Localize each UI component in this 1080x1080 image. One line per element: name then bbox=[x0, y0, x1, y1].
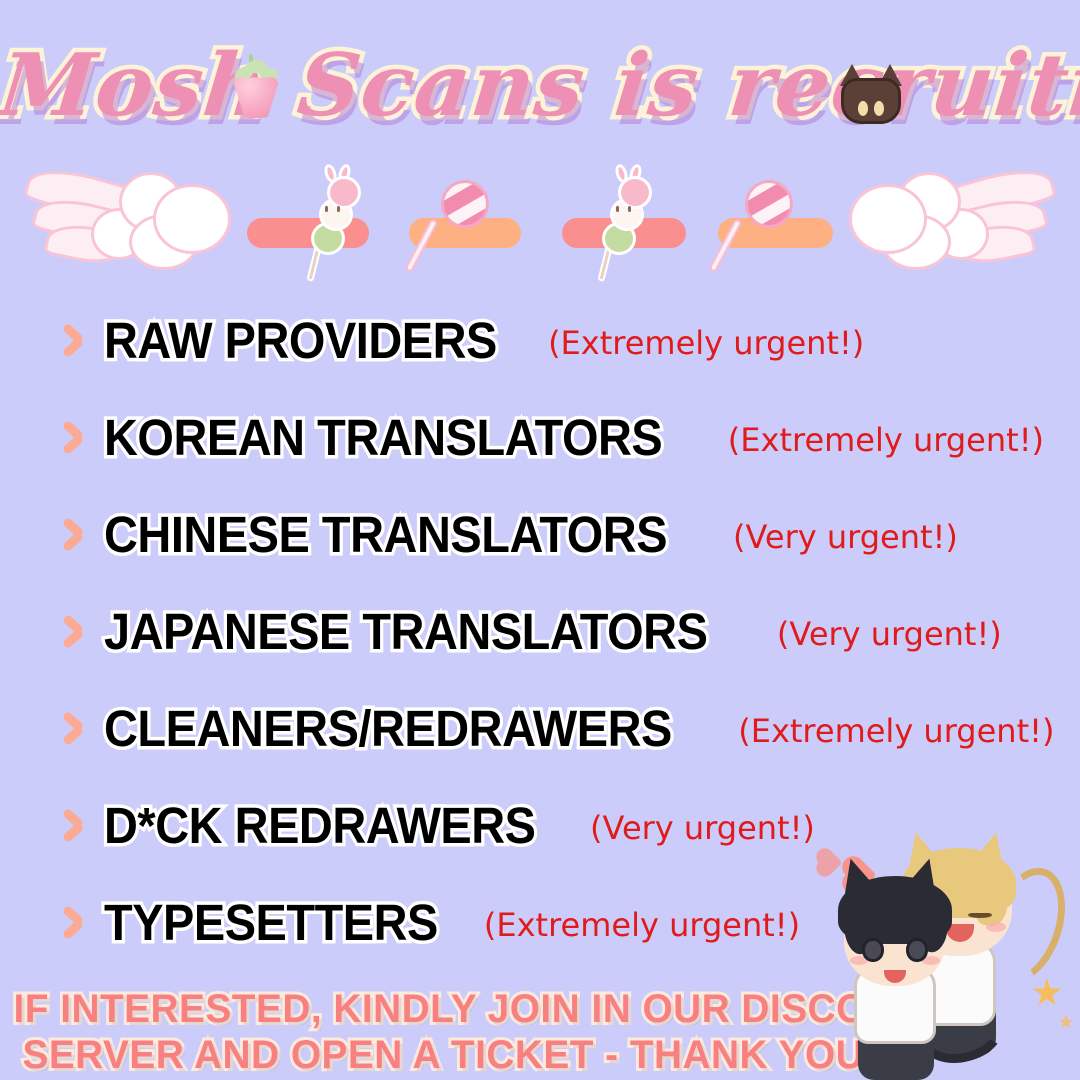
urgency-badge: (Very urgent!) bbox=[590, 810, 815, 846]
list-item: CLEANERS/REDRAWERS (Extremely urgent!) bbox=[0, 680, 1080, 777]
chevron-right-icon bbox=[56, 900, 90, 946]
role-label: KOREAN TRANSLATORS bbox=[104, 410, 662, 466]
role-label: CLEANERS/REDRAWERS bbox=[104, 701, 672, 757]
urgency-badge: (Extremely urgent!) bbox=[728, 422, 1044, 458]
star-icon bbox=[1058, 1014, 1074, 1030]
chevron-right-icon bbox=[56, 803, 90, 849]
header-banner: Mosh Scans is recruiting! bbox=[0, 28, 1080, 158]
cta-line-2: SERVER AND OPEN A TICKET - THANK YOU! bbox=[14, 1032, 887, 1078]
dango-skewer-icon bbox=[588, 178, 650, 283]
chevron-right-icon bbox=[56, 415, 90, 461]
urgency-badge: (Extremely urgent!) bbox=[738, 713, 1054, 749]
cat-head-icon bbox=[838, 66, 904, 126]
role-label: JAPANESE TRANSLATORS bbox=[104, 604, 707, 660]
dango-skewer-icon bbox=[297, 178, 359, 283]
list-item: JAPANESE TRANSLATORS (Very urgent!) bbox=[0, 583, 1080, 680]
list-item: CHINESE TRANSLATORS (Very urgent!) bbox=[0, 486, 1080, 583]
chevron-right-icon bbox=[56, 706, 90, 752]
lollipop-icon bbox=[727, 178, 799, 278]
role-label: CHINESE TRANSLATORS bbox=[104, 507, 667, 563]
decorative-divider bbox=[0, 160, 1080, 285]
urgency-badge: (Extremely urgent!) bbox=[548, 325, 864, 361]
list-item: RAW PROVIDERS (Extremely urgent!) bbox=[0, 292, 1080, 389]
chevron-right-icon bbox=[56, 609, 90, 655]
chevron-right-icon bbox=[56, 318, 90, 364]
winged-cloud-icon bbox=[20, 168, 235, 280]
urgency-badge: (Very urgent!) bbox=[733, 519, 958, 555]
urgency-badge: (Extremely urgent!) bbox=[484, 907, 800, 943]
strawberry-icon bbox=[228, 56, 284, 118]
star-icon bbox=[1032, 978, 1062, 1008]
role-label: D*CK REDRAWERS bbox=[104, 798, 536, 854]
list-item: KOREAN TRANSLATORS (Extremely urgent!) bbox=[0, 389, 1080, 486]
page-title: Mosh Scans is recruiting! bbox=[0, 28, 1080, 144]
lollipop-icon bbox=[423, 178, 495, 278]
role-label: TYPESETTERS bbox=[104, 895, 438, 951]
chevron-right-icon bbox=[56, 512, 90, 558]
winged-cloud-icon bbox=[845, 168, 1060, 280]
call-to-action: IF INTERESTED, KINDLY JOIN IN OUR DISCOR… bbox=[0, 986, 900, 1078]
chibi-cat-boys-illustration bbox=[810, 830, 1080, 1080]
urgency-badge: (Very urgent!) bbox=[777, 616, 1002, 652]
cta-line-1: IF INTERESTED, KINDLY JOIN IN OUR DISCOR… bbox=[14, 986, 887, 1032]
role-label: RAW PROVIDERS bbox=[104, 313, 497, 369]
